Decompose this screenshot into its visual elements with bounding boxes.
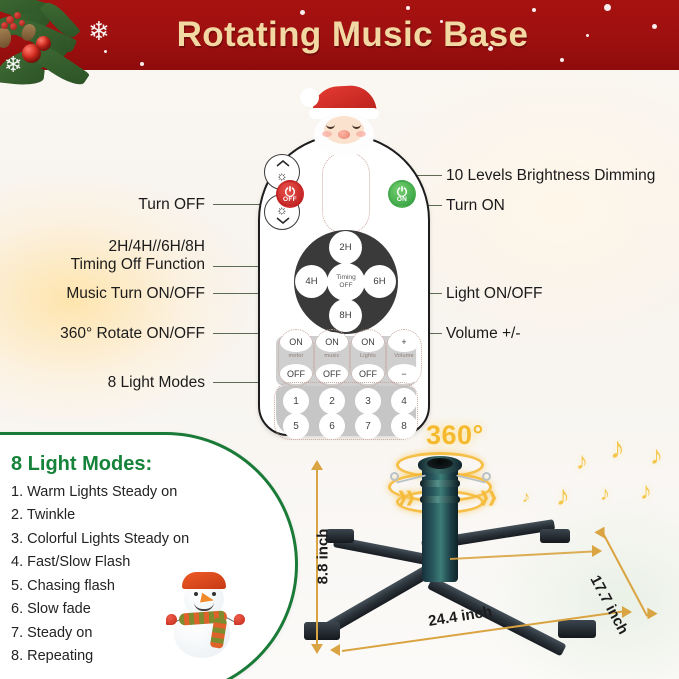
dim-diagonal-arrow (592, 545, 602, 557)
motor-label: motor (280, 353, 312, 359)
music-note-icon: ♪ (610, 434, 625, 464)
callout-brightness: 10 Levels Brightness Dimming (446, 167, 655, 185)
lights-on-button[interactable]: ON (352, 332, 384, 352)
snowman-icon (168, 566, 244, 658)
music-note-icon: ♪ (522, 490, 530, 506)
motor-off-button[interactable]: OFF (280, 364, 312, 384)
timing-off-line2: OFF (339, 282, 352, 290)
power-off-button[interactable]: ⏻ OFF (276, 180, 304, 208)
stand-foot (304, 622, 340, 640)
toggle-motor: ON motor OFF (280, 332, 312, 384)
mode-5-button[interactable]: 5 (283, 413, 309, 439)
music-note-icon: ♪ (600, 484, 610, 504)
power-on-button[interactable]: ⏻ ON (388, 180, 416, 208)
music-off-button[interactable]: OFF (316, 364, 348, 384)
timing-wheel: 2H 4H 6H 8H Timing OFF (294, 230, 398, 334)
timing-off-line1: Timing (336, 274, 356, 282)
stand-foot (558, 620, 596, 638)
list-item: 3. Colorful Lights Steady on (11, 528, 261, 551)
callout-turn-off: Turn OFF (60, 196, 205, 214)
dim-height-arrow-top (311, 460, 323, 470)
music-note-icon: ♪ (650, 442, 663, 468)
infographic-page: ❄ Rotating Music Base ❄ (0, 0, 679, 679)
remote-control: ☼ ☼ ⏻ OFF ⏻ ON 2H 4H 6H 8H (258, 86, 430, 436)
callout-timing: 2H/4H//6H/8H Timing Off Function (20, 238, 205, 275)
music-label: music (316, 353, 348, 359)
volume-control: + Volume − (388, 332, 420, 384)
stand-screw-knob (390, 472, 399, 481)
timer-2h-button[interactable]: 2H (329, 231, 362, 264)
callout-light-modes: 8 Light Modes (75, 374, 205, 392)
list-item: 2. Twinkle (11, 504, 261, 527)
mode-3-button[interactable]: 3 (355, 388, 381, 414)
motor-on-button[interactable]: ON (280, 332, 312, 352)
rotation-arrow-icon: ❱ (404, 490, 417, 505)
callout-light-onoff: Light ON/OFF (446, 285, 542, 303)
music-on-button[interactable]: ON (316, 332, 348, 352)
timer-4h-button[interactable]: 4H (295, 265, 328, 298)
rotation-arrow-icon: ❱ (486, 490, 499, 505)
lights-off-button[interactable]: OFF (352, 364, 384, 384)
santa-icon (296, 86, 392, 156)
light-modes-panel: 8 Light Modes: 1. Warm Lights Steady on … (0, 432, 298, 679)
volume-down-button[interactable]: − (388, 364, 420, 384)
mode-6-button[interactable]: 6 (319, 413, 345, 439)
timer-6h-button[interactable]: 6H (363, 265, 396, 298)
dim-height-arrow-bottom (311, 644, 323, 654)
timer-8h-button[interactable]: 8H (329, 299, 362, 332)
wreath-icon: ❄ (0, 0, 122, 100)
timing-off-button[interactable]: Timing OFF (327, 263, 365, 301)
mode-1-button[interactable]: 1 (283, 388, 309, 414)
callout-timing-line1: 2H/4H//6H/8H (20, 238, 205, 256)
lights-label: Lights (352, 353, 384, 359)
dim-diagonal-line (450, 550, 600, 560)
dim-width-label: 24.4 inch (427, 603, 493, 630)
callout-volume: Volume +/- (446, 325, 521, 343)
dim-height-label: 8.8 inch (314, 529, 331, 585)
mode-7-button[interactable]: 7 (355, 413, 381, 439)
mode-8-button[interactable]: 8 (391, 413, 417, 439)
product-photo: ♪ ♪ ♪ ♪ ♪ ♪ ♪ 360° ❱ ❱ ❱ ❱ (300, 428, 679, 679)
rotate-360-badge: 360° (426, 420, 484, 451)
dim-depth-arrow-bottom (642, 608, 657, 623)
toggle-music: ON music OFF (316, 332, 348, 384)
remote-body: ☼ ☼ ⏻ OFF ⏻ ON 2H 4H 6H 8H (258, 134, 430, 436)
mode-4-button[interactable]: 4 (391, 388, 417, 414)
brightness-dash-outline (322, 152, 370, 234)
mode-2-button[interactable]: 2 (319, 388, 345, 414)
music-note-icon: ♪ (556, 482, 570, 510)
light-modes-title: 8 Light Modes: (11, 453, 261, 476)
list-item: 1. Warm Lights Steady on (11, 481, 261, 504)
callout-music: Music Turn ON/OFF (50, 285, 205, 303)
toggle-lights: ON Lights OFF (352, 332, 384, 384)
stand-screw-knob (482, 472, 491, 481)
stand-foot (540, 529, 570, 543)
stand-post-opening (427, 458, 453, 469)
callout-timing-line2: Timing Off Function (20, 256, 205, 274)
volume-label: Volume (388, 353, 420, 359)
dim-width-arrow-left (330, 644, 340, 656)
dim-depth-arrow-top (594, 524, 609, 539)
music-note-icon: ♪ (640, 480, 652, 504)
music-note-icon: ♪ (576, 450, 588, 474)
callout-turn-on: Turn ON (446, 197, 505, 215)
callout-rotate: 360° Rotate ON/OFF (45, 325, 205, 343)
volume-up-button[interactable]: + (388, 332, 420, 352)
